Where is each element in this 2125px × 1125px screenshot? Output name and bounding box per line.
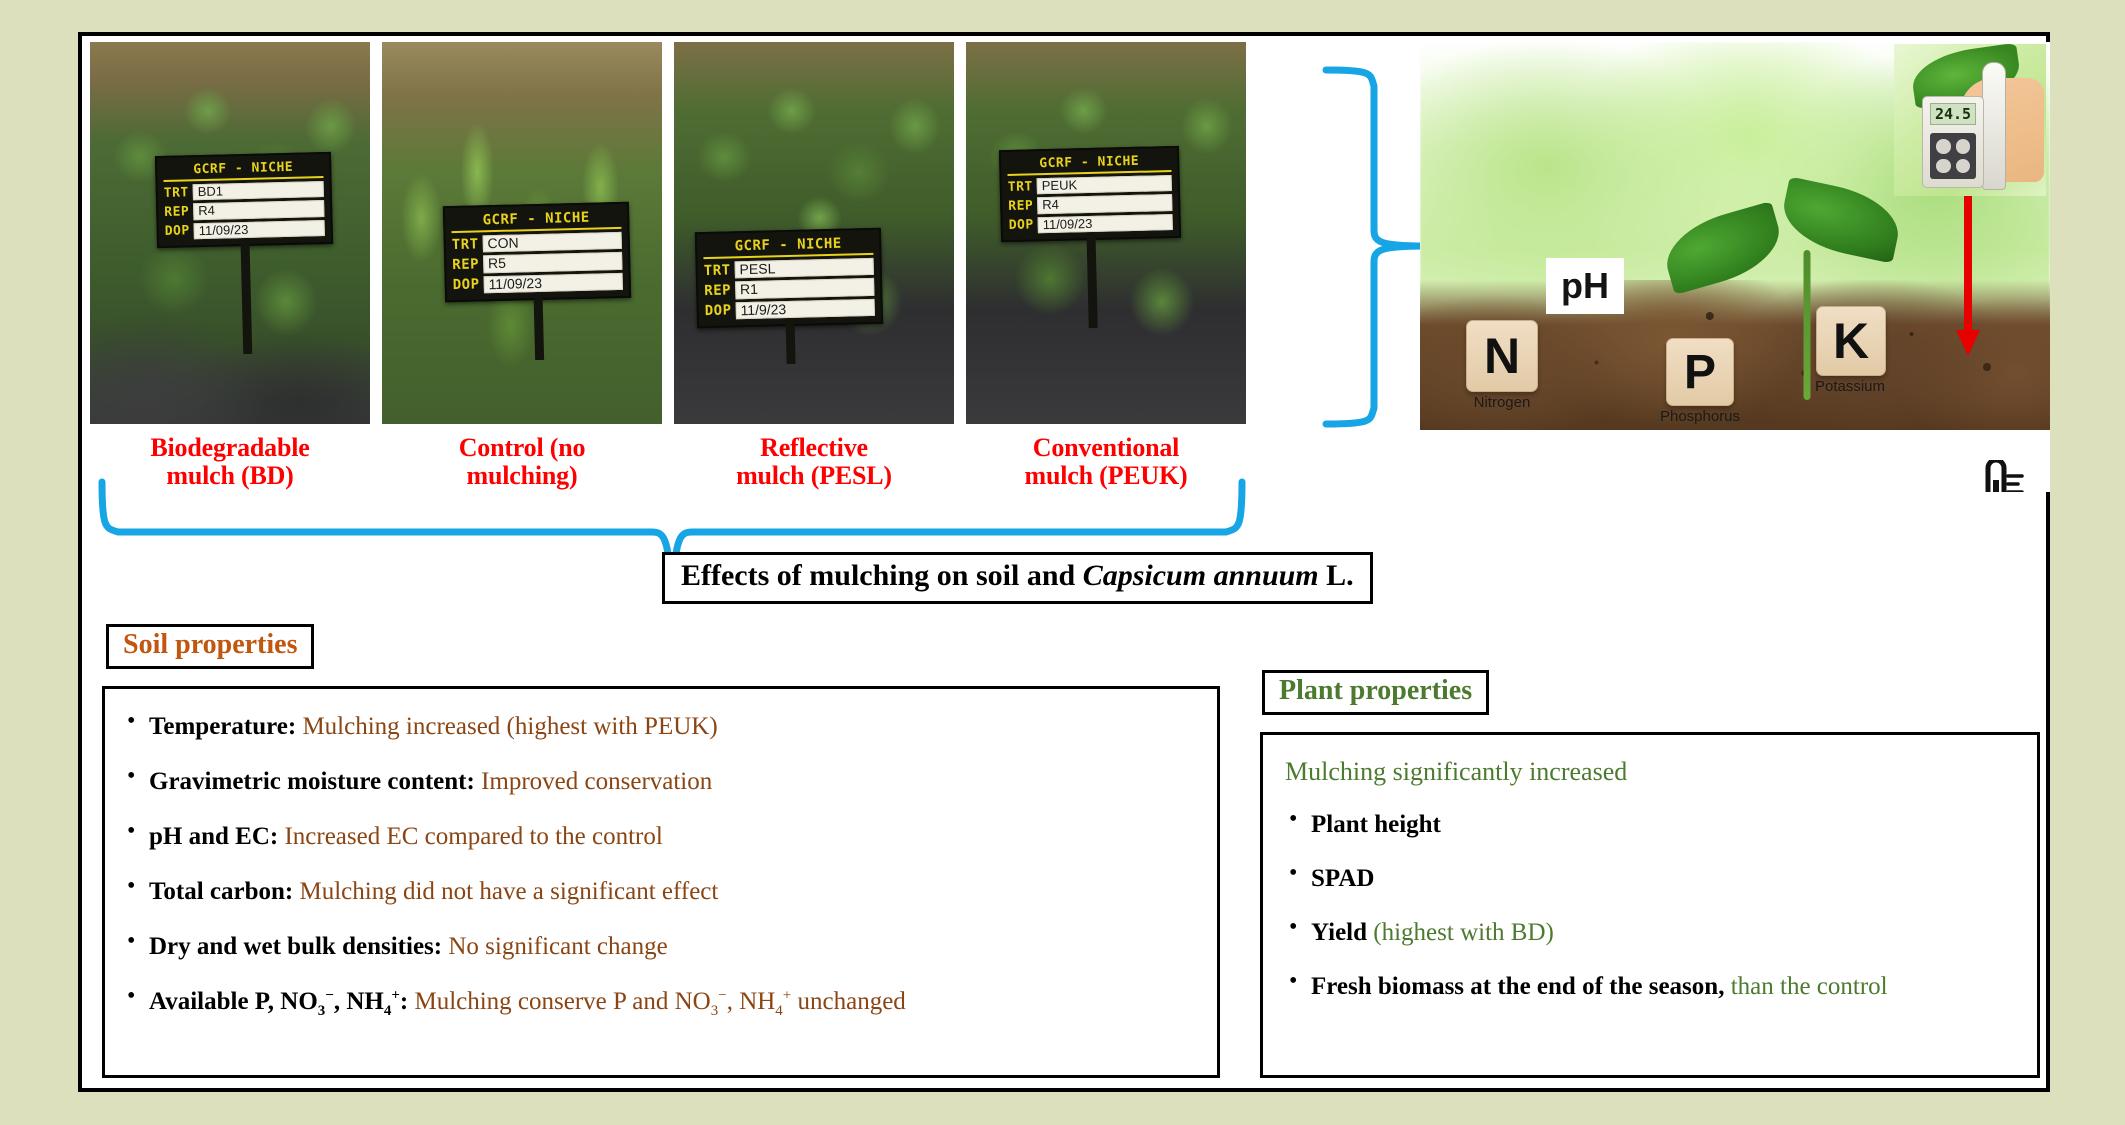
key-post: : xyxy=(400,988,408,1015)
value-sup-no3: − xyxy=(718,988,726,1004)
sign-post xyxy=(534,298,545,360)
key-pre: Available P, NO xyxy=(149,988,318,1015)
meter-keypad xyxy=(1930,133,1976,179)
soil-item-key-nutrients: Available P, NO3−, NH4+: xyxy=(149,988,408,1015)
nutrient-tile-p: P xyxy=(1666,338,1734,406)
soil-properties-list: Temperature: Mulching increased (highest… xyxy=(123,711,1199,1021)
caption-line-2: mulch (BD) xyxy=(90,462,370,490)
soil-nutrient-illustration: pH N Nitrogen P Phosphorus K Potassium 2… xyxy=(1420,42,2050,492)
sign-value-rep: R4 xyxy=(1037,194,1172,214)
meter-probe-arm xyxy=(1982,62,2006,190)
list-item: SPAD xyxy=(1285,863,2015,895)
list-item: Temperature: Mulching increased (highest… xyxy=(123,711,1199,742)
title-prefix: Effects of mulching on soil and xyxy=(681,559,1083,592)
sign-title: GCRF - NICHE xyxy=(163,159,323,182)
meter-key xyxy=(1936,159,1951,174)
key-sub-no3: 3 xyxy=(318,1003,326,1019)
soil-properties-box: Temperature: Mulching increased (highest… xyxy=(102,686,1220,1078)
key-mid: , NH xyxy=(334,988,384,1015)
caption-line-1: Control (no xyxy=(382,434,662,462)
sign-key-rep: REP xyxy=(452,256,479,273)
soil-item-key: Gravimetric moisture content: xyxy=(149,768,475,795)
treatment-photo-cell-bd: GCRF - NICHE TRT BD1 REP R4 DOP 11/09/23 xyxy=(90,42,370,490)
sign-value-dop: 11/09/23 xyxy=(483,273,623,294)
sign-row-dop: DOP 11/09/23 xyxy=(1009,214,1173,234)
nutrient-label-k: Potassium xyxy=(1770,378,1930,395)
plant-item-key: Fresh biomass at the end of the season, xyxy=(1311,973,1724,1000)
sign-value-rep: R1 xyxy=(735,278,875,299)
sign-row-dop: DOP 11/9/23 xyxy=(705,299,875,321)
field-sign-control: GCRF - NICHE TRT CON REP R5 DOP 11/09/23 xyxy=(443,202,631,303)
thermometer-icon: °C xyxy=(1962,460,2024,492)
caption-line-1: Conventional xyxy=(966,434,1246,462)
sign-key-rep: REP xyxy=(164,204,189,220)
plant-lead-text: Mulching significantly increased xyxy=(1285,757,2015,787)
sign-key-rep: REP xyxy=(704,282,731,299)
field-photo-peuk: GCRF - NICHE TRT PEUK REP R4 DOP 11/09/2… xyxy=(966,42,1246,424)
title-species: Capsicum annuum xyxy=(1083,559,1319,592)
soil-item-key: Total carbon: xyxy=(149,878,293,905)
plant-properties-header: Plant properties xyxy=(1262,670,1489,715)
soil-item-value: Mulching did not have a significant effe… xyxy=(299,878,718,905)
value-sup-nh4: + xyxy=(783,988,791,1004)
sign-title: GCRF - NICHE xyxy=(1007,153,1171,176)
sign-value-dop: 11/9/23 xyxy=(735,299,875,320)
spad-meter-illustration: 24.5 xyxy=(1894,44,2046,196)
list-item-nutrients: Available P, NO3−, NH4+: Mulching conser… xyxy=(123,986,1199,1021)
sign-row-trt: TRT CON xyxy=(452,232,622,254)
sign-value-dop: 11/09/23 xyxy=(1038,214,1173,234)
soil-properties-header: Soil properties xyxy=(106,624,314,669)
meter-lcd-reading: 24.5 xyxy=(1930,103,1976,125)
sign-row-rep: REP R4 xyxy=(1008,194,1172,214)
nutrient-tile-k: K xyxy=(1816,306,1886,376)
sign-value-trt: BD1 xyxy=(193,181,324,200)
sign-row-dop: DOP 11/09/23 xyxy=(165,220,325,240)
list-item: Fresh biomass at the end of the season, … xyxy=(1285,971,2015,1003)
meter-body: 24.5 xyxy=(1922,96,1984,188)
nutrient-label-n: Nitrogen xyxy=(1422,394,1582,411)
soil-item-key: Temperature: xyxy=(149,713,296,740)
sign-value-dop: 11/09/23 xyxy=(194,220,325,239)
ph-tile: pH xyxy=(1546,258,1624,314)
sign-row-trt: TRT PESL xyxy=(704,258,874,280)
list-item: Gravimetric moisture content: Improved c… xyxy=(123,766,1199,797)
field-photo-control: GCRF - NICHE TRT CON REP R5 DOP 11/09/23 xyxy=(382,42,662,424)
soil-item-value: Mulching increased (highest with PEUK) xyxy=(302,713,717,740)
field-sign-peuk: GCRF - NICHE TRT PEUK REP R4 DOP 11/09/2… xyxy=(999,146,1181,242)
plant-item-key: Plant height xyxy=(1311,811,1441,838)
plant-item-value: than the control xyxy=(1724,973,1887,1000)
sign-key-dop: DOP xyxy=(165,224,190,240)
sign-title: GCRF - NICHE xyxy=(703,235,873,259)
sign-key-dop: DOP xyxy=(705,303,732,320)
sign-key-dop: DOP xyxy=(453,277,480,294)
meter-key xyxy=(1956,159,1971,174)
treatment-caption-bd: Biodegradable mulch (BD) xyxy=(90,434,370,490)
seedling-leaf-right xyxy=(1777,176,1906,263)
sign-value-rep: R5 xyxy=(483,252,623,273)
list-item: pH and EC: Increased EC compared to the … xyxy=(123,821,1199,852)
value-sub-no3: 3 xyxy=(711,1003,719,1019)
sign-row-dop: DOP 11/09/23 xyxy=(453,273,623,295)
sign-row-trt: TRT PEUK xyxy=(1008,175,1172,195)
sign-key-trt: TRT xyxy=(452,236,479,253)
sign-key-trt: TRT xyxy=(1008,179,1033,195)
meter-key xyxy=(1956,139,1971,154)
field-photo-pesl: GCRF - NICHE TRT PESL REP R1 DOP 11/9/23 xyxy=(674,42,954,424)
title-suffix: L. xyxy=(1319,559,1354,592)
treatment-photo-cell-peuk: GCRF - NICHE TRT PEUK REP R4 DOP 11/09/2… xyxy=(966,42,1246,490)
sign-row-rep: REP R5 xyxy=(452,252,622,274)
meter-key xyxy=(1936,139,1951,154)
soil-item-value: No significant change xyxy=(448,933,667,960)
soil-item-value: Increased EC compared to the control xyxy=(284,823,662,850)
sign-row-rep: REP R1 xyxy=(704,278,874,300)
value-post: unchanged xyxy=(791,988,906,1015)
field-sign-pesl: GCRF - NICHE TRT PESL REP R1 DOP 11/9/23 xyxy=(695,228,883,329)
sign-key-trt: TRT xyxy=(164,185,189,201)
list-item: Yield (highest with BD) xyxy=(1285,917,2015,949)
soil-item-value: Improved conservation xyxy=(481,768,712,795)
list-item: Dry and wet bulk densities: No significa… xyxy=(123,931,1199,962)
key-sub-nh4: 4 xyxy=(384,1003,392,1019)
caption-line-2: mulch (PESL) xyxy=(674,462,954,490)
plant-properties-box: Mulching significantly increased Plant h… xyxy=(1260,732,2040,1078)
treatment-caption-peuk: Conventional mulch (PEUK) xyxy=(966,434,1246,490)
sign-key-rep: REP xyxy=(1008,198,1033,214)
treatment-caption-control: Control (no mulching) xyxy=(382,434,662,490)
caption-line-2: mulch (PEUK) xyxy=(966,462,1246,490)
list-item: Plant height xyxy=(1285,809,2015,841)
plant-properties-list: Plant height SPAD Yield (highest with BD… xyxy=(1285,809,2015,1003)
main-title-box: Effects of mulching on soil and Capsicum… xyxy=(662,552,1373,604)
sign-value-rep: R4 xyxy=(193,200,324,219)
value-mid: , NH xyxy=(727,988,776,1015)
sign-key-dop: DOP xyxy=(1009,218,1034,234)
caption-line-1: Biodegradable xyxy=(90,434,370,462)
treatment-photo-cell-control: GCRF - NICHE TRT CON REP R5 DOP 11/09/23 xyxy=(382,42,662,490)
plant-item-key: SPAD xyxy=(1311,865,1374,892)
sign-key-trt: TRT xyxy=(704,262,731,279)
graphical-abstract-panel: GCRF - NICHE TRT BD1 REP R4 DOP 11/09/23 xyxy=(78,32,2050,1092)
plant-item-key: Yield xyxy=(1311,919,1367,946)
sign-row-rep: REP R4 xyxy=(164,200,324,220)
sign-value-trt: CON xyxy=(482,232,622,253)
sign-value-trt: PESL xyxy=(734,258,874,279)
value-pre: Mulching conserve P and NO xyxy=(414,988,710,1015)
field-sign-bd: GCRF - NICHE TRT BD1 REP R4 DOP 11/09/23 xyxy=(155,152,333,248)
value-sub-nh4: 4 xyxy=(775,1003,783,1019)
sign-post xyxy=(786,324,796,364)
soil-item-key: pH and EC: xyxy=(149,823,278,850)
sign-title: GCRF - NICHE xyxy=(451,209,621,233)
soil-item-key: Dry and wet bulk densities: xyxy=(149,933,442,960)
nutrient-label-p: Phosphorus xyxy=(1620,408,1780,425)
treatment-caption-pesl: Reflective mulch (PESL) xyxy=(674,434,954,490)
field-photo-bd: GCRF - NICHE TRT BD1 REP R4 DOP 11/09/23 xyxy=(90,42,370,424)
plant-item-value: (highest with BD) xyxy=(1367,919,1554,946)
soil-item-value-nutrients: Mulching conserve P and NO3−, NH4+ uncha… xyxy=(414,988,905,1015)
treatment-photo-cell-pesl: GCRF - NICHE TRT PESL REP R1 DOP 11/9/23 xyxy=(674,42,954,490)
list-item: Total carbon: Mulching did not have a si… xyxy=(123,876,1199,907)
caption-line-1: Reflective xyxy=(674,434,954,462)
nutrient-tile-n: N xyxy=(1466,320,1538,392)
sign-row-trt: TRT BD1 xyxy=(164,181,324,201)
key-sup-nh4: + xyxy=(391,988,400,1004)
sign-value-trt: PEUK xyxy=(1037,175,1172,195)
caption-line-2: mulching) xyxy=(382,462,662,490)
key-sup-no3: − xyxy=(325,988,334,1004)
